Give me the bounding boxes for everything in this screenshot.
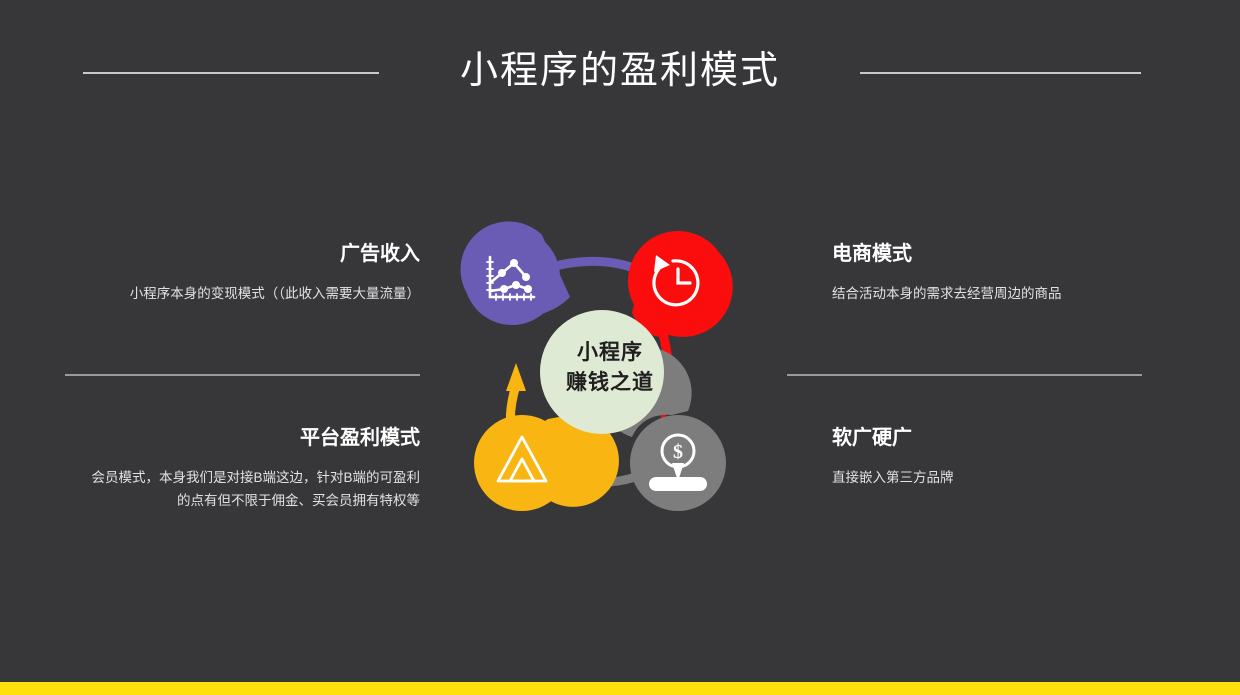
quadrant-platform: 平台盈利模式 会员模式，本身我们是对接B端这边，针对B端的可盈利的点有但不限于佣… — [90, 424, 420, 512]
divider-left — [65, 374, 420, 376]
center-label: 小程序 赚钱之道 — [532, 338, 688, 398]
quadrant-ecommerce: 电商模式 结合活动本身的需求去经营周边的商品 — [832, 240, 1162, 305]
slide-header: 小程序的盈利模式 — [0, 42, 1240, 106]
quadrant-advertising: 广告收入 小程序本身的变现模式（（此收入需要大量流量） — [90, 240, 420, 305]
divider-right — [787, 374, 1142, 376]
quadrant-soft-hard-ad: 软广硬广 直接嵌入第三方品牌 — [832, 424, 1162, 489]
svg-text:$: $ — [673, 441, 683, 463]
quadrant-soft-hard-ad-title: 软广硬广 — [832, 424, 1162, 452]
quadrant-soft-hard-ad-body: 直接嵌入第三方品牌 — [832, 466, 1162, 489]
page-title: 小程序的盈利模式 — [0, 42, 1240, 100]
quadrant-ecommerce-title: 电商模式 — [832, 240, 1162, 268]
node-ecommerce[interactable] — [628, 231, 733, 337]
bottom-accent-bar — [0, 682, 1240, 695]
node-advertising[interactable] — [461, 221, 570, 325]
quadrant-platform-title: 平台盈利模式 — [90, 424, 420, 452]
center-label-line2: 赚钱之道 — [532, 368, 688, 398]
title-rule-right — [860, 72, 1141, 74]
quadrant-advertising-body: 小程序本身的变现模式（（此收入需要大量流量） — [90, 282, 420, 305]
quadrant-advertising-title: 广告收入 — [90, 240, 420, 268]
quadrant-ecommerce-body: 结合活动本身的需求去经营周边的商品 — [832, 282, 1162, 305]
quadrant-platform-body: 会员模式，本身我们是对接B端这边，针对B端的可盈利的点有但不限于佣金、买会员拥有… — [90, 466, 420, 512]
center-label-line1: 小程序 — [532, 338, 688, 368]
slide-canvas: 小程序的盈利模式 广告收入 小程序本身的变现模式（（此收入需要大量流量） 电商模… — [0, 0, 1240, 695]
